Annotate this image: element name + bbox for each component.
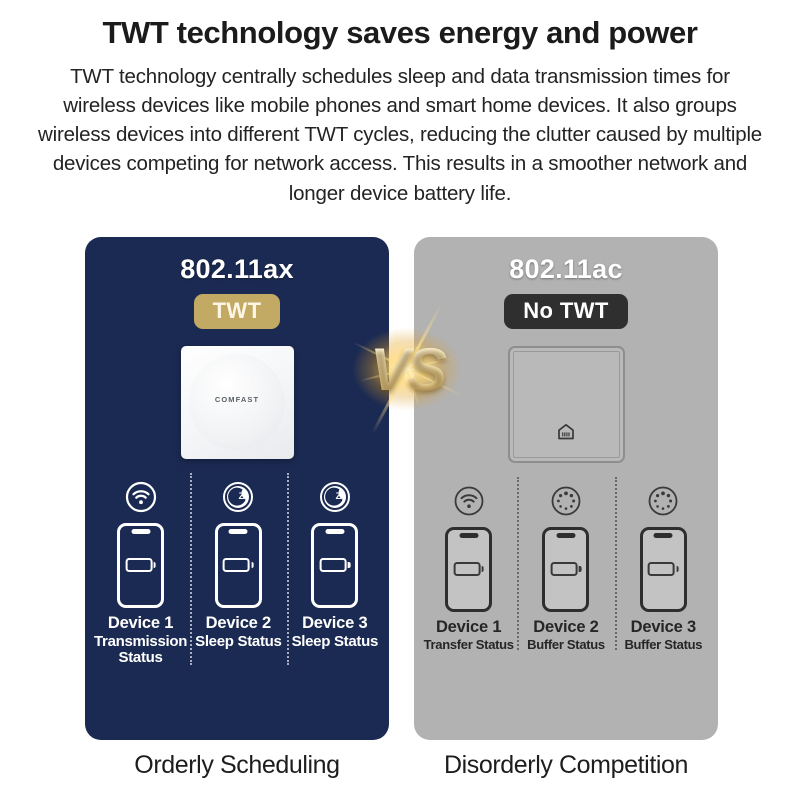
sleep-moon-z-icon: Z — [193, 477, 283, 517]
device-status: Sleep Status — [290, 634, 380, 651]
wifi-icon — [423, 481, 514, 521]
battery-icon — [453, 562, 484, 576]
ap-brand-label: COMFAST — [181, 395, 294, 404]
phone-notch — [229, 529, 248, 534]
device-status: Transfer Status — [423, 638, 514, 652]
device-name: Device 2 — [520, 619, 611, 637]
header-section: TWT technology saves energy and power TW… — [0, 0, 800, 208]
page-title: TWT technology saves energy and power — [0, 16, 800, 50]
device-column-2-right: Device 2 Buffer Status — [517, 481, 614, 652]
device-name: Device 2 — [193, 615, 283, 633]
device-status: Sleep Status — [193, 634, 283, 651]
wall-plate-blank-icon — [508, 346, 625, 463]
smartphone-icon — [542, 527, 589, 612]
phone-notch — [325, 529, 344, 534]
loading-spinner-icon — [618, 481, 709, 521]
device-name: Device 3 — [290, 615, 380, 633]
smartphone-icon — [117, 523, 164, 608]
access-point-wrap-right — [414, 346, 718, 463]
device-columns-right: Device 1 Transfer Status — [414, 481, 718, 652]
page-description: TWT technology centrally schedules sleep… — [38, 62, 762, 208]
device-status: Buffer Status — [618, 638, 709, 652]
device-name: Device 1 — [94, 615, 187, 633]
sleep-moon-z-icon: Z — [290, 477, 380, 517]
battery-icon — [319, 558, 350, 572]
device-column-3-left: Z Device 3 Sleep Status — [287, 477, 383, 667]
smartphone-icon — [640, 527, 687, 612]
comfast-ap-icon: COMFAST — [181, 346, 294, 459]
status-badge-twt: TWT — [194, 294, 281, 329]
smartphone-icon — [311, 523, 358, 608]
panel-802-11ac: 802.11ac No TWT — [414, 237, 718, 740]
device-column-3-right: Device 3 Buffer Status — [615, 481, 712, 652]
battery-icon — [551, 562, 582, 576]
standard-title-left: 802.11ax — [85, 254, 389, 285]
device-name: Device 1 — [423, 619, 514, 637]
caption-orderly: Orderly Scheduling — [85, 751, 389, 780]
phone-notch — [556, 533, 575, 538]
device-name: Device 3 — [618, 619, 709, 637]
svg-text:Z: Z — [239, 491, 245, 501]
access-point-wrap-left: COMFAST — [85, 346, 389, 459]
svg-text:Z: Z — [335, 491, 341, 501]
standard-title-right: 802.11ac — [414, 254, 718, 285]
device-status: Transmission Status — [94, 634, 187, 667]
device-column-1-right: Device 1 Transfer Status — [420, 481, 517, 652]
badge-wrap-right: No TWT — [414, 294, 718, 329]
device-column-1-left: Device 1 Transmission Status — [91, 477, 190, 667]
phone-notch — [459, 533, 478, 538]
rj45-port-icon — [557, 423, 576, 445]
caption-disorderly: Disorderly Competition — [414, 751, 718, 780]
battery-icon — [648, 562, 679, 576]
device-columns-left: Device 1 Transmission Status Z — [85, 477, 389, 667]
loading-spinner-icon — [520, 481, 611, 521]
battery-icon — [125, 558, 156, 572]
device-status: Buffer Status — [520, 638, 611, 652]
smartphone-icon — [215, 523, 262, 608]
phone-notch — [654, 533, 673, 538]
smartphone-icon — [445, 527, 492, 612]
device-column-2-left: Z Device 2 Sleep Status — [190, 477, 286, 667]
badge-wrap-left: TWT — [85, 294, 389, 329]
infographic-page: TWT technology saves energy and power TW… — [0, 0, 800, 800]
phone-notch — [131, 529, 150, 534]
wifi-icon — [94, 477, 187, 517]
status-badge-no-twt: No TWT — [504, 294, 627, 329]
battery-icon — [223, 558, 254, 572]
panel-802-11ax: 802.11ax TWT COMFAST — [85, 237, 389, 740]
